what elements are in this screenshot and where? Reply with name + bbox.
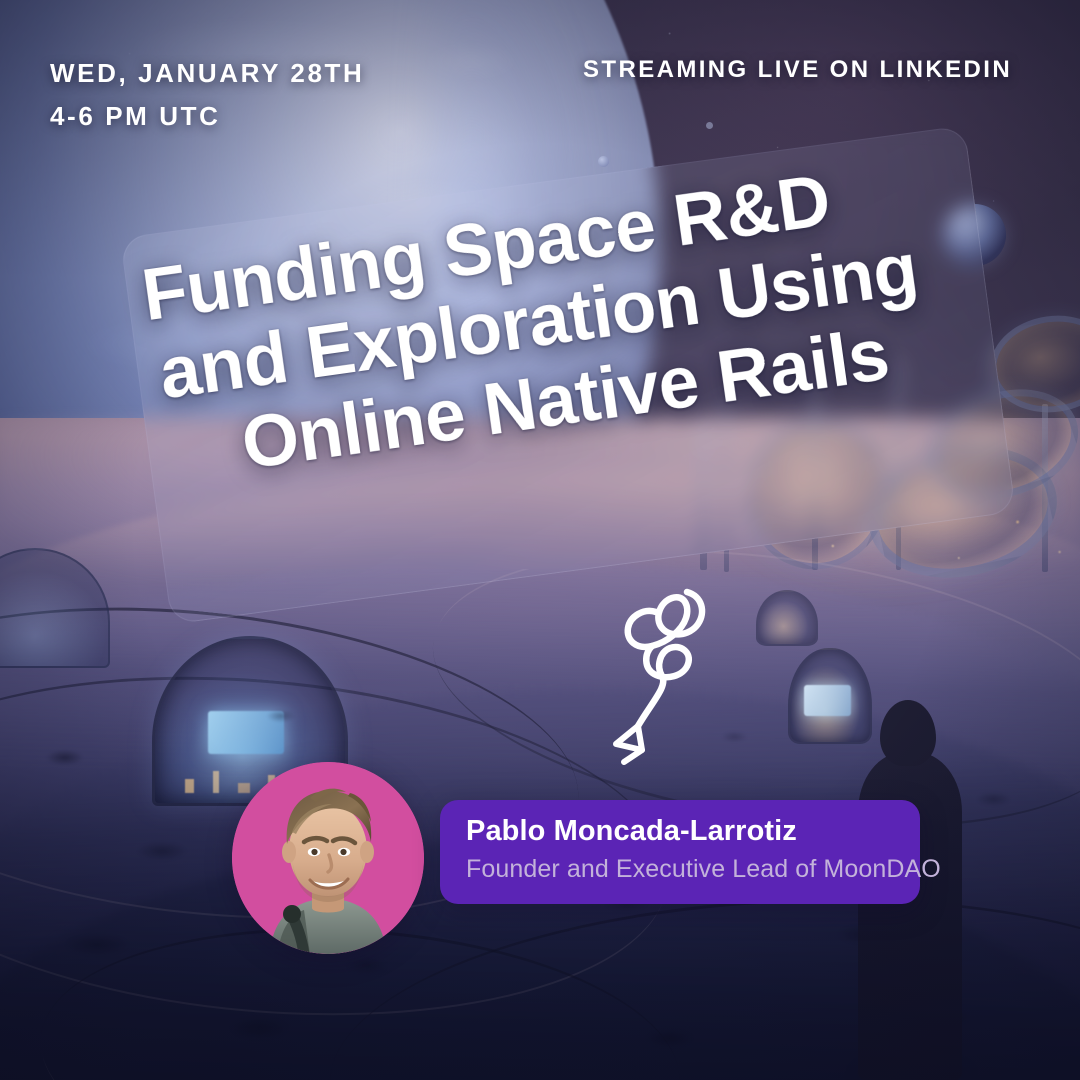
event-time: 4-6 PM UTC — [50, 95, 364, 138]
speaker-card: Pablo Moncada-Larrotiz Founder and Execu… — [440, 800, 920, 904]
event-datetime: WED, JANUARY 28TH 4-6 PM UTC — [50, 52, 364, 138]
event-promo-poster: WED, JANUARY 28TH 4-6 PM UTC STREAMING L… — [0, 0, 1080, 1080]
speaker-portrait — [232, 762, 424, 954]
streaming-note: STREAMING LIVE ON LINKEDIN — [583, 56, 1012, 84]
curly-arrow-icon — [586, 576, 736, 776]
distant-moon-secondary-icon — [706, 122, 713, 129]
speaker-role: Founder and Executive Lead of MoonDAO — [466, 853, 894, 887]
avatar — [232, 762, 424, 954]
distant-moon-icon — [598, 156, 609, 167]
figure-hood — [880, 700, 936, 766]
event-date: WED, JANUARY 28TH — [50, 52, 364, 95]
speaker-name: Pablo Moncada-Larrotiz — [466, 814, 894, 849]
